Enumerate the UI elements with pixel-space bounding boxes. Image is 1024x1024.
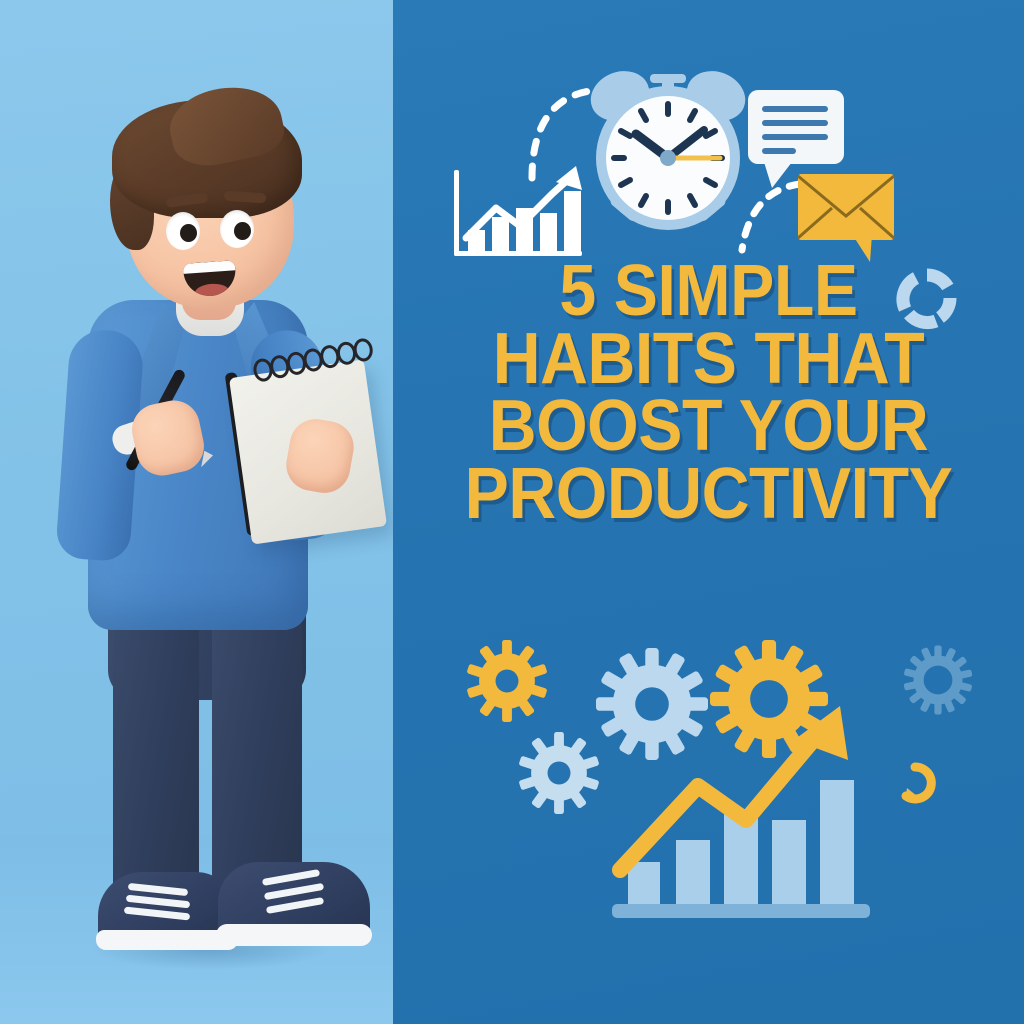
leg-left: [113, 590, 199, 910]
headline-line-1: 5 SIMPLE: [418, 258, 999, 326]
gear-outline-faint-icon: [902, 644, 974, 716]
poster-canvas: 5 SIMPLE HABITS THAT BOOST YOUR PRODUCTI…: [0, 0, 1024, 1024]
alarm-clock-icon: [584, 62, 752, 248]
headline: 5 SIMPLE HABITS THAT BOOST YOUR PRODUCTI…: [393, 258, 1024, 529]
shoe-sole-right: [216, 924, 372, 946]
character-illustration: [0, 0, 393, 1024]
pupil-left: [180, 224, 197, 242]
left-panel: [0, 0, 393, 1024]
bottom-bar-chart-icon: [606, 694, 902, 926]
headline-line-4: PRODUCTIVITY: [418, 461, 999, 529]
pupil-right: [234, 222, 251, 240]
gear-small-blue-icon: [518, 732, 600, 814]
headline-line-2: HABITS THAT: [418, 326, 999, 394]
headline-line-3: BOOST YOUR: [418, 393, 999, 461]
leg-right: [212, 590, 302, 890]
gear-small-yellow-icon: [466, 640, 548, 722]
teeth: [183, 260, 236, 274]
